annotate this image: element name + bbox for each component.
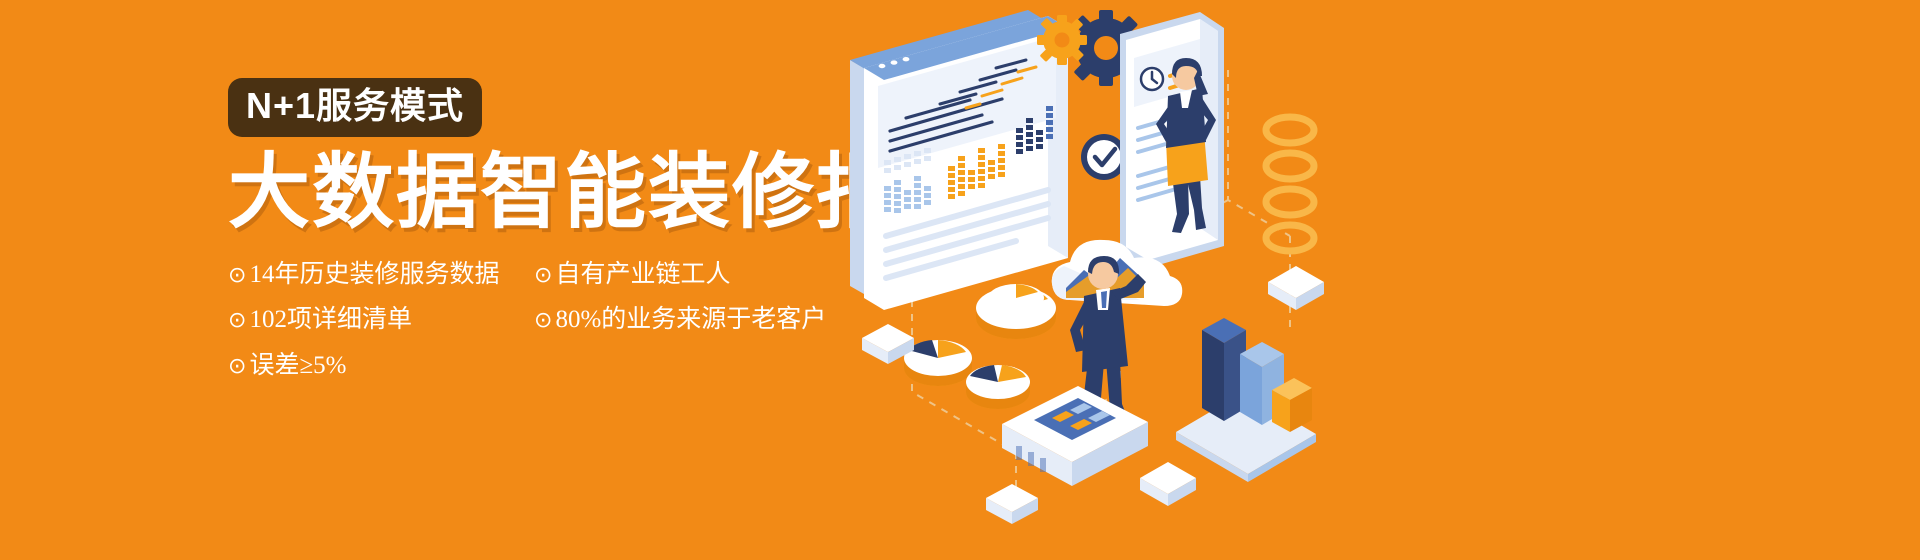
- bullet-marker-icon: ⊙: [228, 354, 246, 379]
- ring-stack: [1266, 117, 1314, 251]
- floating-plate-right: [1268, 266, 1324, 310]
- list-item: ⊙ 14年历史装修服务数据: [228, 261, 500, 290]
- isometric-illustration: [820, 0, 1440, 560]
- list-item-label: 自有产业链工人: [555, 261, 730, 290]
- bullet-marker-icon: ⊙: [534, 263, 552, 288]
- phone-screen-icon: [1141, 68, 1163, 90]
- floating-plate-server-side: [1140, 462, 1196, 506]
- list-item: ⊙ 80%的业务来源于老客户: [534, 306, 826, 335]
- bullet-marker-icon: ⊙: [228, 263, 246, 288]
- pie-chart-cylinder-stack: [976, 284, 1056, 339]
- pixel-bar-chart-navy-light: [1046, 106, 1053, 139]
- gear-small: [1037, 15, 1087, 65]
- list-item: ⊙ 102项详细清单: [228, 306, 500, 335]
- bar-chart-blocks: [1176, 318, 1316, 482]
- list-item-label: 80%的业务来源于老客户: [555, 306, 826, 335]
- list-item: ⊙ 自有产业链工人: [534, 261, 826, 290]
- list-item-label: 误差≥5%: [249, 352, 346, 381]
- bullet-column-right: ⊙ 自有产业链工人 ⊙ 80%的业务来源于老客户: [534, 261, 826, 336]
- browser-window: [850, 10, 1068, 310]
- list-item-label: 102项详细清单: [249, 306, 412, 335]
- bullet-marker-icon: ⊙: [534, 308, 552, 333]
- floating-plate-bottom: [986, 484, 1038, 524]
- bullet-column-left: ⊙ 14年历史装修服务数据 ⊙ 102项详细清单 ⊙ 误差≥5%: [228, 261, 500, 381]
- bullet-marker-icon: ⊙: [228, 308, 246, 333]
- promo-banner: N+1服务模式 大数据智能装修报价 ⊙ 14年历史装修服务数据 ⊙ 102项详细…: [0, 0, 1920, 560]
- service-model-badge: N+1服务模式: [228, 78, 482, 137]
- pie-chart-cylinder-stack-small: [904, 340, 972, 386]
- list-item-label: 14年历史装修服务数据: [249, 261, 499, 290]
- pie-chart-cylinder-stack-mid: [966, 365, 1030, 409]
- list-item: ⊙ 误差≥5%: [228, 352, 500, 381]
